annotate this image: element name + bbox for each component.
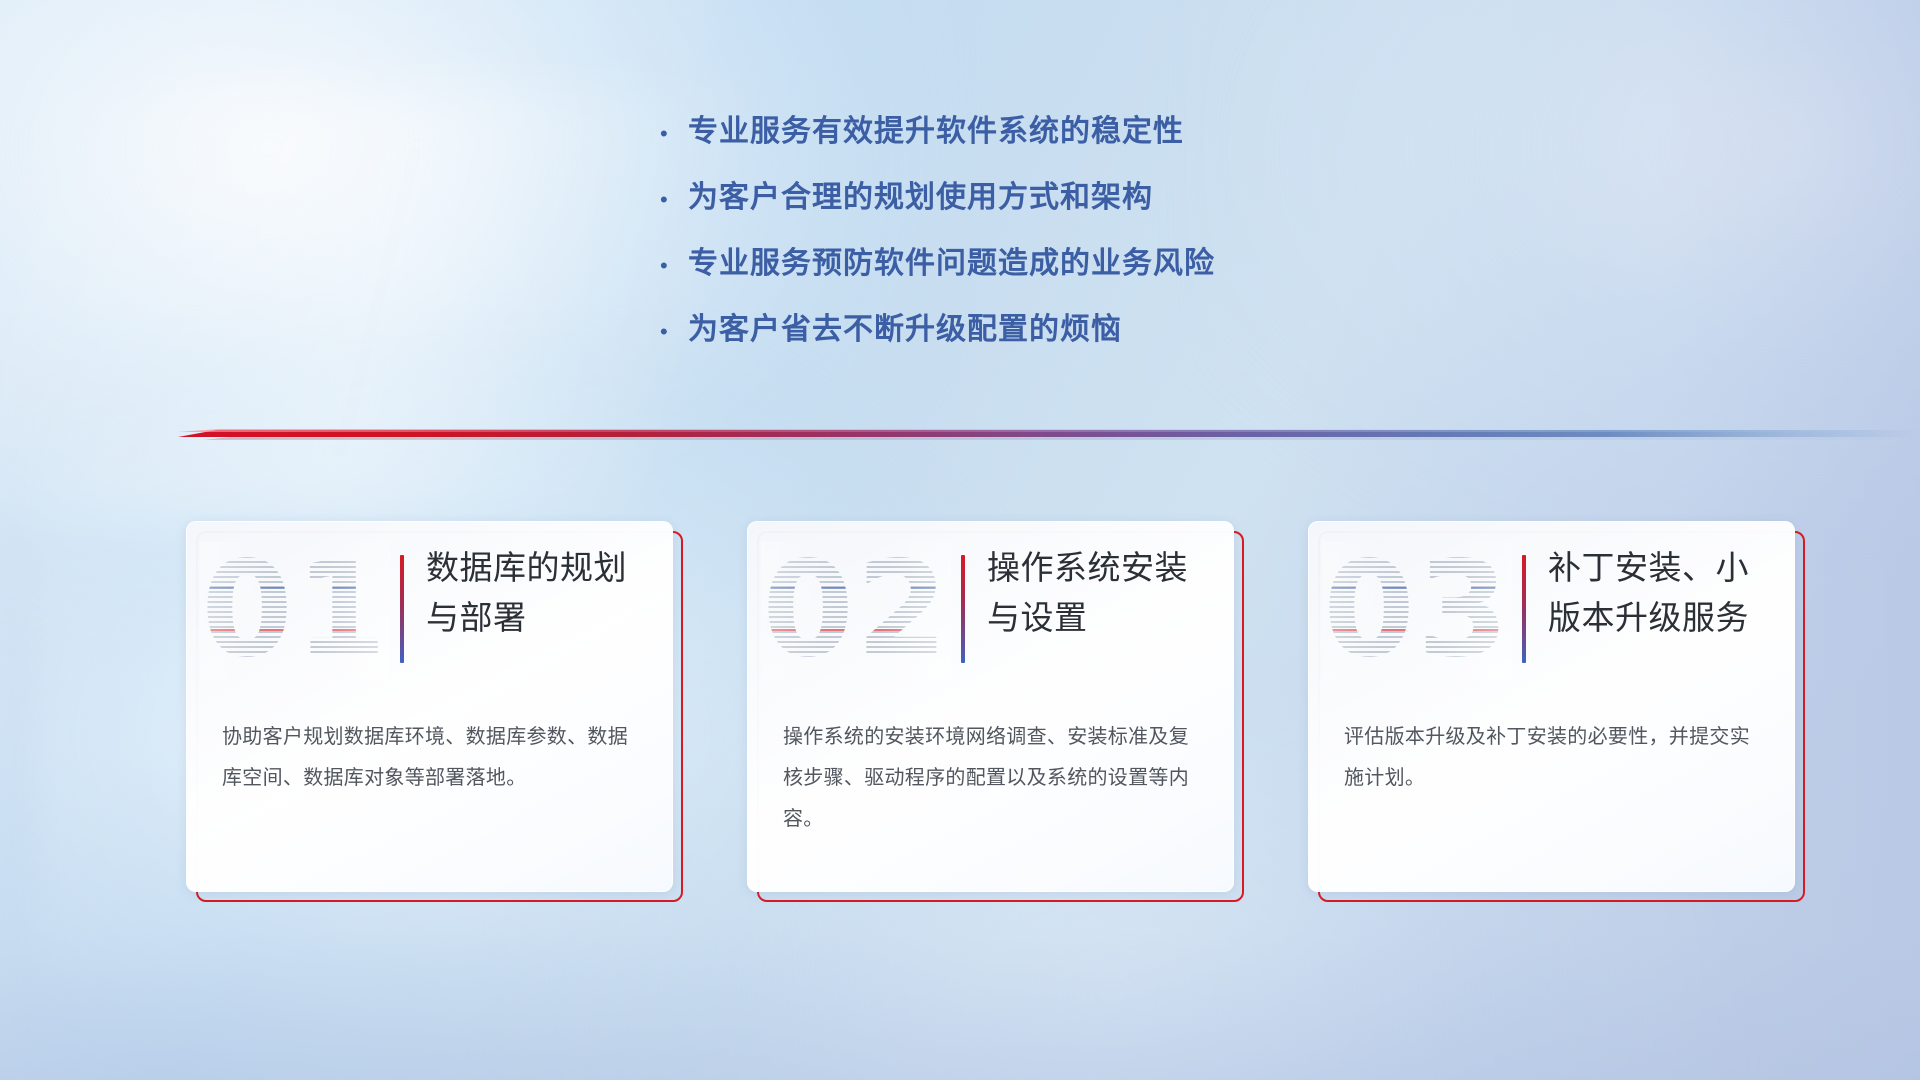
section-divider	[178, 424, 1920, 442]
benefits-bullet-list: • 专业服务有效提升软件系统的稳定性 • 为客户合理的规划使用方式和架构 • 专…	[660, 106, 1720, 370]
bullet-dot-icon: •	[660, 255, 688, 277]
card-title-accent-bar	[400, 555, 404, 663]
card-number-watermark: 02 02	[761, 541, 951, 679]
service-card-01[interactable]: 01 01 数据库的规划与部署 协助客户规划数据库环境、数据库参数、数据库空间、…	[186, 521, 683, 902]
card-body-03: 评估版本升级及补丁安装的必要性，并提交实施计划。	[1344, 717, 1764, 799]
card-body-01: 协助客户规划数据库环境、数据库参数、数据库空间、数据库对象等部署落地。	[222, 717, 642, 799]
card-title-accent-bar	[961, 555, 965, 663]
card-body-02: 操作系统的安装环境网络调查、安装标准及复核步骤、驱动程序的配置以及系统的设置等内…	[783, 717, 1203, 840]
card-title-02: 操作系统安装与设置	[987, 543, 1219, 643]
card-title-03: 补丁安装、小版本升级服务	[1548, 543, 1780, 643]
card-title-01: 数据库的规划与部署	[426, 543, 658, 643]
card-number-accent-stripes: 02	[761, 541, 951, 679]
divider-shadow	[178, 437, 1920, 440]
card-header: 03 03 补丁安装、小版本升级服务	[1308, 521, 1795, 699]
bullet-item-2: • 为客户合理的规划使用方式和架构	[660, 172, 1720, 238]
bullet-text-1: 专业服务有效提升软件系统的稳定性	[688, 106, 1184, 150]
service-card-02[interactable]: 02 02 操作系统安装与设置 操作系统的安装环境网络调查、安装标准及复核步骤、…	[747, 521, 1244, 902]
card-number-accent-stripes: 03	[1322, 541, 1512, 679]
bullet-item-1: • 专业服务有效提升软件系统的稳定性	[660, 106, 1720, 172]
divider-highlight	[178, 429, 1920, 432]
card-number-watermark: 01 01	[200, 541, 390, 679]
service-card-03[interactable]: 03 03 补丁安装、小版本升级服务 评估版本升级及补丁安装的必要性，并提交实施…	[1308, 521, 1805, 902]
card-surface: 02 02 操作系统安装与设置 操作系统的安装环境网络调查、安装标准及复核步骤、…	[747, 521, 1234, 892]
bullet-text-2: 为客户合理的规划使用方式和架构	[688, 172, 1153, 216]
card-title-accent-bar	[1522, 555, 1526, 663]
bullet-item-3: • 专业服务预防软件问题造成的业务风险	[660, 238, 1720, 304]
card-header: 02 02 操作系统安装与设置	[747, 521, 1234, 699]
bullet-dot-icon: •	[660, 321, 688, 343]
card-number-accent-stripes: 01	[200, 541, 390, 679]
bullet-text-4: 为客户省去不断升级配置的烦恼	[688, 304, 1122, 348]
card-surface: 03 03 补丁安装、小版本升级服务 评估版本升级及补丁安装的必要性，并提交实施…	[1308, 521, 1795, 892]
bullet-text-3: 专业服务预防软件问题造成的业务风险	[688, 238, 1215, 282]
slide-canvas: • 专业服务有效提升软件系统的稳定性 • 为客户合理的规划使用方式和架构 • 专…	[0, 0, 1920, 1080]
bullet-dot-icon: •	[660, 123, 688, 145]
service-card-group: 01 01 数据库的规划与部署 协助客户规划数据库环境、数据库参数、数据库空间、…	[186, 521, 1806, 911]
bullet-dot-icon: •	[660, 189, 688, 211]
card-header: 01 01 数据库的规划与部署	[186, 521, 673, 699]
card-number-watermark: 03 03	[1322, 541, 1512, 679]
bullet-item-4: • 为客户省去不断升级配置的烦恼	[660, 304, 1720, 370]
card-surface: 01 01 数据库的规划与部署 协助客户规划数据库环境、数据库参数、数据库空间、…	[186, 521, 673, 892]
